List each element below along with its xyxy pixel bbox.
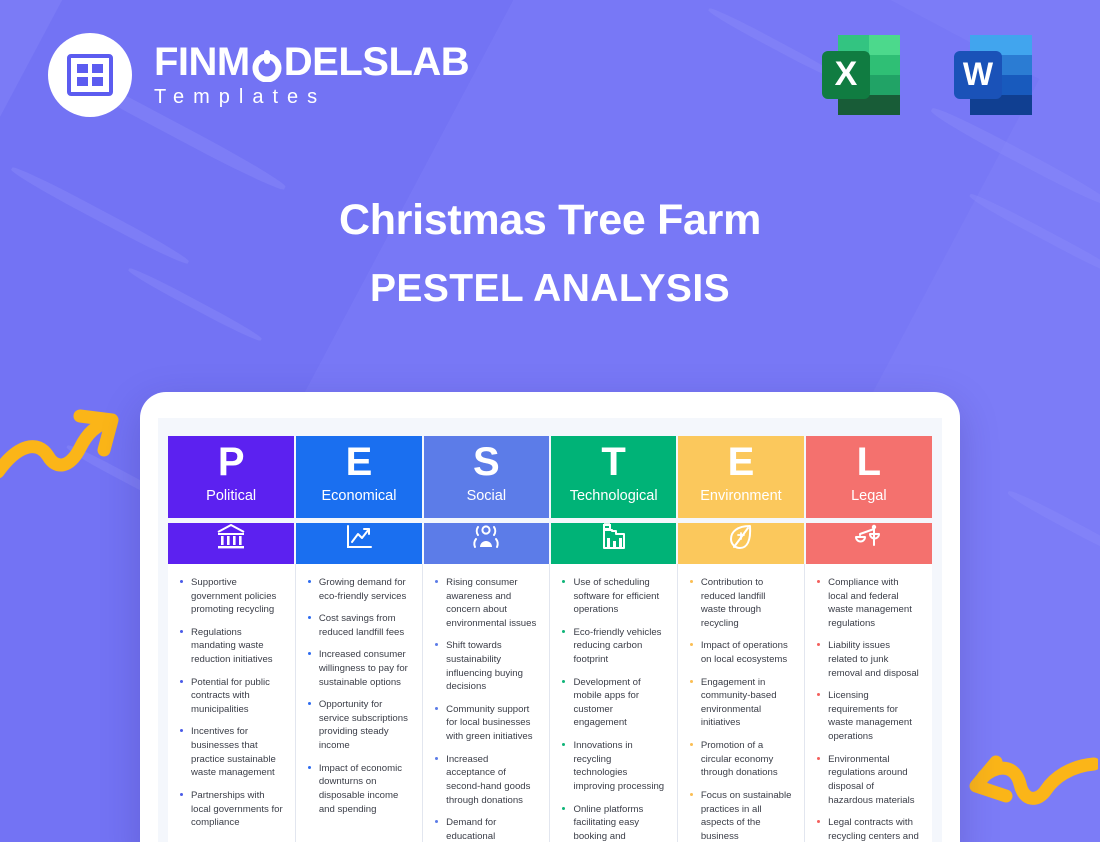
brand-logo: FINM DELSLAB Templates — [48, 33, 469, 117]
list-item: Potential for public contracts with muni… — [178, 676, 283, 717]
bullet-list-technological: Use of scheduling software for efficient… — [560, 576, 664, 842]
list-item: Liability issues related to junk removal… — [815, 639, 920, 680]
tablet-screen: P Political E Economical S Social T Tech… — [158, 418, 942, 842]
excel-icon[interactable]: X — [812, 23, 916, 127]
list-item: Growing demand for eco-friendly services — [306, 576, 410, 603]
leaf-icon — [727, 523, 755, 551]
bullet-list-environment: Contribution to reduced landfill waste t… — [688, 576, 792, 842]
list-item: Shift towards sustainability influencing… — [433, 639, 537, 693]
matrix-icon-row — [168, 520, 932, 564]
factory-icon — [600, 523, 628, 551]
column-header-technological[interactable]: T Technological — [550, 436, 677, 520]
column-header-political[interactable]: P Political — [168, 436, 295, 520]
list-item: Online platforms facilitating easy booki… — [560, 803, 664, 842]
list-item: Eco-friendly vehicles reducing carbon fo… — [560, 626, 664, 667]
list-item: Compliance with local and federal waste … — [815, 576, 920, 630]
column-header-economical[interactable]: E Economical — [295, 436, 422, 520]
people-group-icon — [471, 523, 501, 551]
list-item: Impact of operations on local ecosystems — [688, 639, 792, 666]
bullet-list-social: Rising consumer awareness and concern ab… — [433, 576, 537, 842]
body-cell-technological: Use of scheduling software for efficient… — [550, 564, 677, 842]
column-label: Legal — [806, 488, 932, 504]
column-label: Economical — [296, 488, 421, 504]
list-item: Impact of economic downturns on disposab… — [306, 762, 410, 816]
page-subtitle: PESTEL ANALYSIS — [0, 267, 1100, 311]
body-cell-political: Supportive government policies promoting… — [168, 564, 295, 842]
body-cell-environment: Contribution to reduced landfill waste t… — [677, 564, 804, 842]
list-item: Licensing requirements for waste managem… — [815, 689, 920, 743]
list-item: Increased consumer willingness to pay fo… — [306, 648, 410, 689]
column-letter: S — [424, 442, 549, 482]
title-block: Christmas Tree Farm PESTEL ANALYSIS — [0, 196, 1100, 311]
matrix-header-row: P Political E Economical S Social T Tech… — [168, 436, 932, 520]
list-item: Contribution to reduced landfill waste t… — [688, 576, 792, 630]
column-header-environment[interactable]: E Environment — [677, 436, 804, 520]
column-header-social[interactable]: S Social — [423, 436, 550, 520]
list-item: Cost savings from reduced landfill fees — [306, 612, 410, 639]
list-item: Demand for educational resources on wast… — [433, 816, 537, 842]
column-label: Technological — [551, 488, 676, 504]
office-icons: X W — [812, 23, 1070, 127]
list-item: Engagement in community-based environmen… — [688, 676, 792, 730]
list-item: Partnerships with local governments for … — [178, 789, 283, 830]
svg-text:W: W — [963, 56, 994, 92]
column-letter: T — [551, 442, 676, 482]
list-item: Legal contracts with recycling centers a… — [815, 816, 920, 842]
column-label: Environment — [678, 488, 803, 504]
bullet-list-legal: Compliance with local and federal waste … — [815, 576, 920, 842]
column-letter: P — [168, 442, 294, 482]
list-item: Community support for local businesses w… — [433, 703, 537, 744]
pestel-matrix: P Political E Economical S Social T Tech… — [168, 436, 932, 842]
page-header: FINM DELSLAB Templates X — [0, 0, 1100, 150]
column-label: Social — [424, 488, 549, 504]
column-letter: E — [296, 442, 421, 482]
column-header-legal[interactable]: L Legal — [805, 436, 932, 520]
brand-name-part1: FINM — [154, 41, 250, 83]
list-item: Opportunity for service subscriptions pr… — [306, 698, 410, 752]
list-item: Increased acceptance of second-hand good… — [433, 753, 537, 807]
list-item: Promotion of a circular economy through … — [688, 739, 792, 780]
squiggle-arrow-down-left-icon — [958, 744, 1098, 840]
icon-cell-political — [168, 520, 295, 564]
body-cell-legal: Compliance with local and federal waste … — [805, 564, 932, 842]
grid-squares-icon — [66, 51, 114, 99]
government-building-icon — [216, 523, 246, 551]
scales-of-justice-icon — [854, 523, 884, 551]
brand-subtitle: Templates — [154, 86, 469, 109]
list-item: Innovations in recycling technologies im… — [560, 739, 664, 793]
column-letter: E — [678, 442, 803, 482]
list-item: Rising consumer awareness and concern ab… — [433, 576, 537, 630]
icon-cell-social — [423, 520, 550, 564]
icon-cell-environment — [677, 520, 804, 564]
line-chart-icon — [345, 523, 373, 551]
squiggle-arrow-up-right-icon — [0, 400, 126, 490]
power-o-icon — [251, 46, 283, 78]
brand-name-part2: DELSLAB — [284, 41, 469, 83]
list-item: Regulations mandating waste reduction in… — [178, 626, 283, 667]
list-item: Incentives for businesses that practice … — [178, 725, 283, 779]
list-item: Supportive government policies promoting… — [178, 576, 283, 617]
icon-cell-legal — [805, 520, 932, 564]
brush-stroke — [1006, 488, 1100, 563]
matrix-body-row: Supportive government policies promoting… — [168, 564, 932, 842]
column-label: Political — [168, 488, 294, 504]
brand-name: FINM DELSLAB — [154, 41, 469, 83]
list-item: Focus on sustainable practices in all as… — [688, 789, 792, 842]
bullet-list-economical: Growing demand for eco-friendly services… — [306, 576, 410, 816]
brand-text: FINM DELSLAB Templates — [154, 41, 469, 109]
word-icon[interactable]: W — [944, 23, 1048, 127]
tablet-card: P Political E Economical S Social T Tech… — [140, 392, 960, 842]
icon-cell-technological — [550, 520, 677, 564]
body-cell-social: Rising consumer awareness and concern ab… — [423, 564, 550, 842]
list-item: Environmental regulations around disposa… — [815, 753, 920, 807]
icon-cell-economical — [295, 520, 422, 564]
column-letter: L — [806, 442, 932, 482]
page-title: Christmas Tree Farm — [0, 196, 1100, 245]
bullet-list-political: Supportive government policies promoting… — [178, 576, 283, 830]
logo-mark — [48, 33, 132, 117]
body-cell-economical: Growing demand for eco-friendly services… — [295, 564, 422, 842]
list-item: Development of mobile apps for customer … — [560, 676, 664, 730]
svg-text:X: X — [835, 55, 858, 93]
list-item: Use of scheduling software for efficient… — [560, 576, 664, 617]
